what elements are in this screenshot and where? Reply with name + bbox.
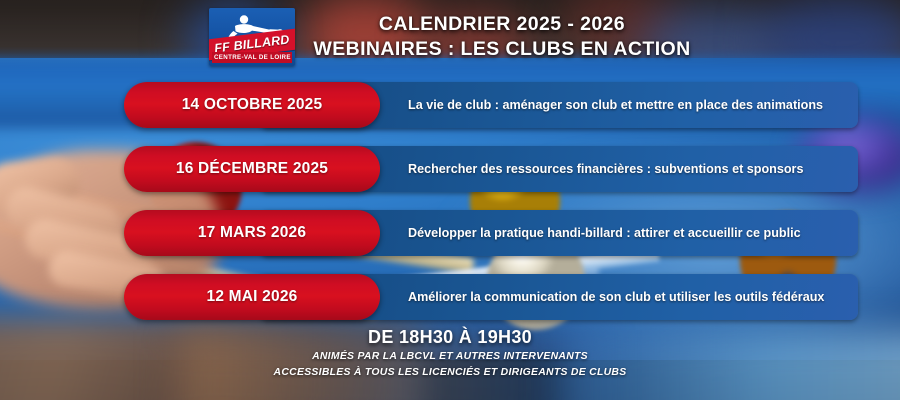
webinar-description-text: Rechercher des ressources financières : … — [408, 161, 803, 178]
poster-title-line2: WEBINAIRES : LES CLUBS EN ACTION — [313, 37, 690, 62]
webinar-date-text: 12 MAI 2026 — [207, 288, 298, 306]
webinar-description-text: Améliorer la communication de son club e… — [408, 289, 824, 306]
logo-region-text: CENTRE-VAL DE LOIRE — [212, 52, 292, 63]
webinar-description-text: Développer la pratique handi-billard : a… — [408, 225, 801, 242]
webinar-row[interactable]: La vie de club : aménager son club et me… — [0, 82, 900, 128]
footer-time-range: DE 18H30 À 19H30 — [0, 326, 900, 349]
webinar-date-text: 17 MARS 2026 — [198, 224, 306, 242]
webinar-row[interactable]: Rechercher des ressources financières : … — [0, 146, 900, 192]
footer-note-line2: ACCESSIBLES À TOUS LES LICENCIÉS ET DIRI… — [0, 365, 900, 381]
webinar-date-pill[interactable]: 14 OCTOBRE 2025 — [124, 82, 380, 128]
webinar-date-pill[interactable]: 16 DÉCEMBRE 2025 — [124, 146, 380, 192]
webinar-row[interactable]: Améliorer la communication de son club e… — [0, 274, 900, 320]
poster-header: FF BILLARD CENTRE-VAL DE LOIRE CALENDRIE… — [0, 8, 900, 66]
webinar-date-pill[interactable]: 17 MARS 2026 — [124, 210, 380, 256]
ff-billard-logo: FF BILLARD CENTRE-VAL DE LOIRE — [209, 8, 295, 66]
webinar-rows: La vie de club : aménager son club et me… — [0, 82, 900, 338]
poster-footer: DE 18H30 À 19H30 ANIMÉS PAR LA LBCVL ET … — [0, 326, 900, 381]
webinar-date-pill[interactable]: 12 MAI 2026 — [124, 274, 380, 320]
webinar-date-text: 16 DÉCEMBRE 2025 — [176, 160, 328, 178]
poster-titles: CALENDRIER 2025 - 2026 WEBINAIRES : LES … — [313, 12, 690, 62]
poster-title-line1: CALENDRIER 2025 - 2026 — [313, 12, 690, 37]
poster-content: FF BILLARD CENTRE-VAL DE LOIRE CALENDRIE… — [0, 0, 900, 400]
webinar-date-text: 14 OCTOBRE 2025 — [182, 96, 323, 114]
webinar-description-text: La vie de club : aménager son club et me… — [408, 97, 823, 114]
webinar-row[interactable]: Développer la pratique handi-billard : a… — [0, 210, 900, 256]
footer-note-line1: ANIMÉS PAR LA LBCVL ET AUTRES INTERVENAN… — [0, 349, 900, 365]
webinar-calendar-poster: FF BILLARD CENTRE-VAL DE LOIRE CALENDRIE… — [0, 0, 900, 400]
